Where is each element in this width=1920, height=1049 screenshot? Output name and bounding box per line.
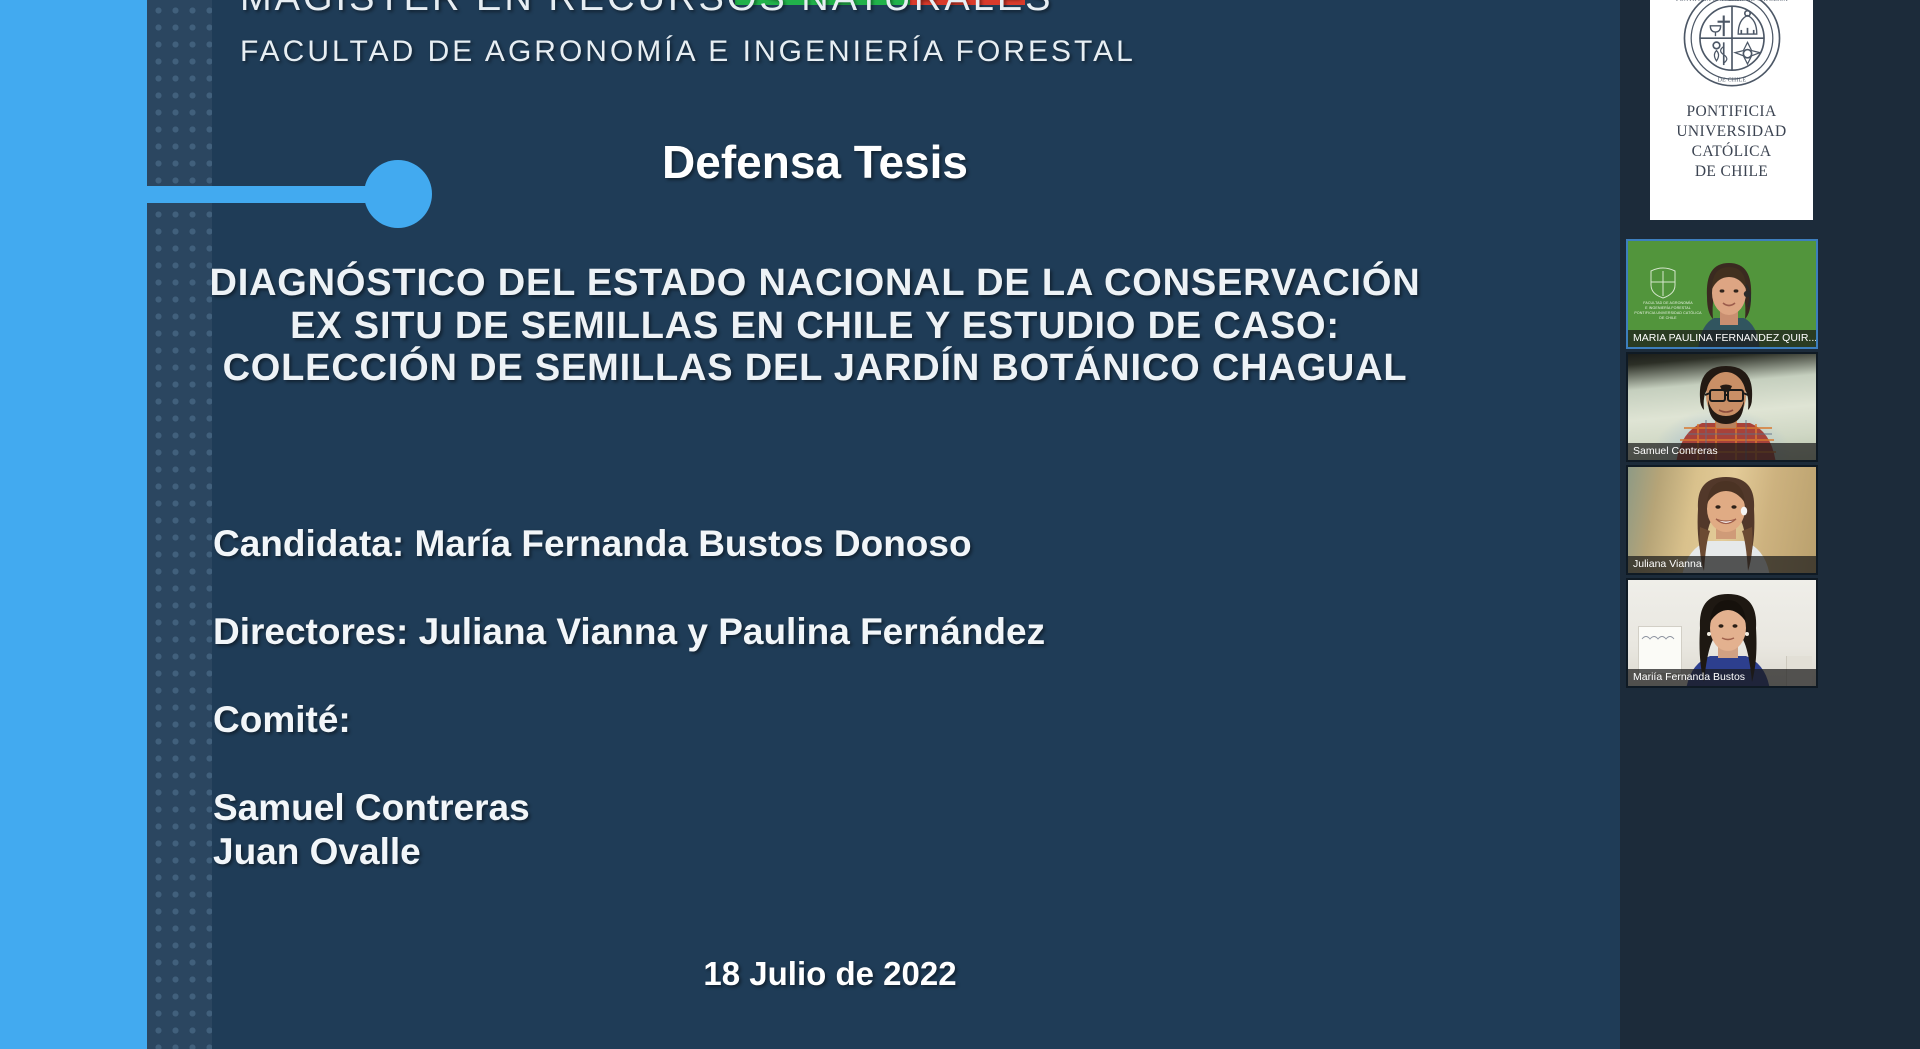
participant-name-label: Juliana Vianna xyxy=(1628,556,1816,573)
university-logo-card: PONTIFICIA UNIVERSIDAD CATOLICA DE CHILE… xyxy=(1650,0,1813,220)
participant-tile-strip[interactable]: FACULTAD DE AGRONOMÍA E INGENIERÍA FORES… xyxy=(1626,239,1818,688)
defense-date: 18 Julio de 2022 xyxy=(240,955,1420,993)
participant-tile-samuel-contreras[interactable]: Samuel Contreras xyxy=(1626,352,1818,462)
participant-name-label: Mariía Fernanda Bustos xyxy=(1628,669,1816,686)
participant-name-label: Samuel Contreras xyxy=(1628,443,1816,460)
participant-name-label: MARIA PAULINA FERNANDEZ QUIR... xyxy=(1628,330,1816,347)
logo-line-4: DE CHILE xyxy=(1676,162,1786,182)
program-header: MAGÍSTER EN RECURSOS NATURALES FACULTAD … xyxy=(240,0,1540,71)
shared-presentation-slide[interactable]: MAGÍSTER EN RECURSOS NATURALES FACULTAD … xyxy=(0,0,1620,1049)
candidate-line: Candidata: María Fernanda Bustos Donoso xyxy=(213,525,1463,613)
screen-share-viewport: MAGÍSTER EN RECURSOS NATURALES FACULTAD … xyxy=(0,0,1920,1049)
committee-member-2: Juan Ovalle xyxy=(213,833,1463,921)
university-logo-name: PONTIFICIA UNIVERSIDAD CATÓLICA DE CHILE xyxy=(1676,102,1786,183)
slide-body: Candidata: María Fernanda Bustos Donoso … xyxy=(213,525,1463,921)
program-degree-line: MAGÍSTER EN RECURSOS NATURALES xyxy=(240,0,1540,23)
thesis-title: DIAGNÓSTICO DEL ESTADO NACIONAL DE LA CO… xyxy=(200,262,1430,390)
slide-left-accent-band xyxy=(0,0,147,1049)
logo-line-1: PONTIFICIA xyxy=(1676,102,1786,122)
slide-kicker: Defensa Tesis xyxy=(240,135,1390,189)
svg-text:DE CHILE: DE CHILE xyxy=(1717,78,1746,84)
whiteboard-scribble-icon xyxy=(1641,632,1679,642)
committee-label: Comité: xyxy=(213,701,1463,789)
directors-line: Directores: Juliana Vianna y Paulina Fer… xyxy=(213,613,1463,701)
participant-tile-juliana-vianna[interactable]: Juliana Vianna xyxy=(1626,465,1818,575)
logo-line-3: CATÓLICA xyxy=(1676,142,1786,162)
svg-text:PONTIFICIA UNIVERSIDAD CATOL: PONTIFICIA UNIVERSIDAD CATOLICA xyxy=(1675,0,1788,3)
participant-tile-maria-paulina-fernandez[interactable]: FACULTAD DE AGRONOMÍA E INGENIERÍA FORES… xyxy=(1626,239,1818,349)
slide-dot-pattern-column xyxy=(147,0,212,1049)
logo-line-2: UNIVERSIDAD xyxy=(1676,122,1786,142)
program-faculty-line: FACULTAD DE AGRONOMÍA E INGENIERÍA FORES… xyxy=(240,33,1540,71)
participant-tile-maria-fernanda-bustos[interactable]: Mariía Fernanda Bustos xyxy=(1626,578,1818,688)
faculty-crest-icon xyxy=(1648,263,1678,299)
committee-member-1: Samuel Contreras xyxy=(213,789,1463,833)
puc-coat-of-arms-icon: PONTIFICIA UNIVERSIDAD CATOLICA DE CHILE xyxy=(1670,0,1794,94)
